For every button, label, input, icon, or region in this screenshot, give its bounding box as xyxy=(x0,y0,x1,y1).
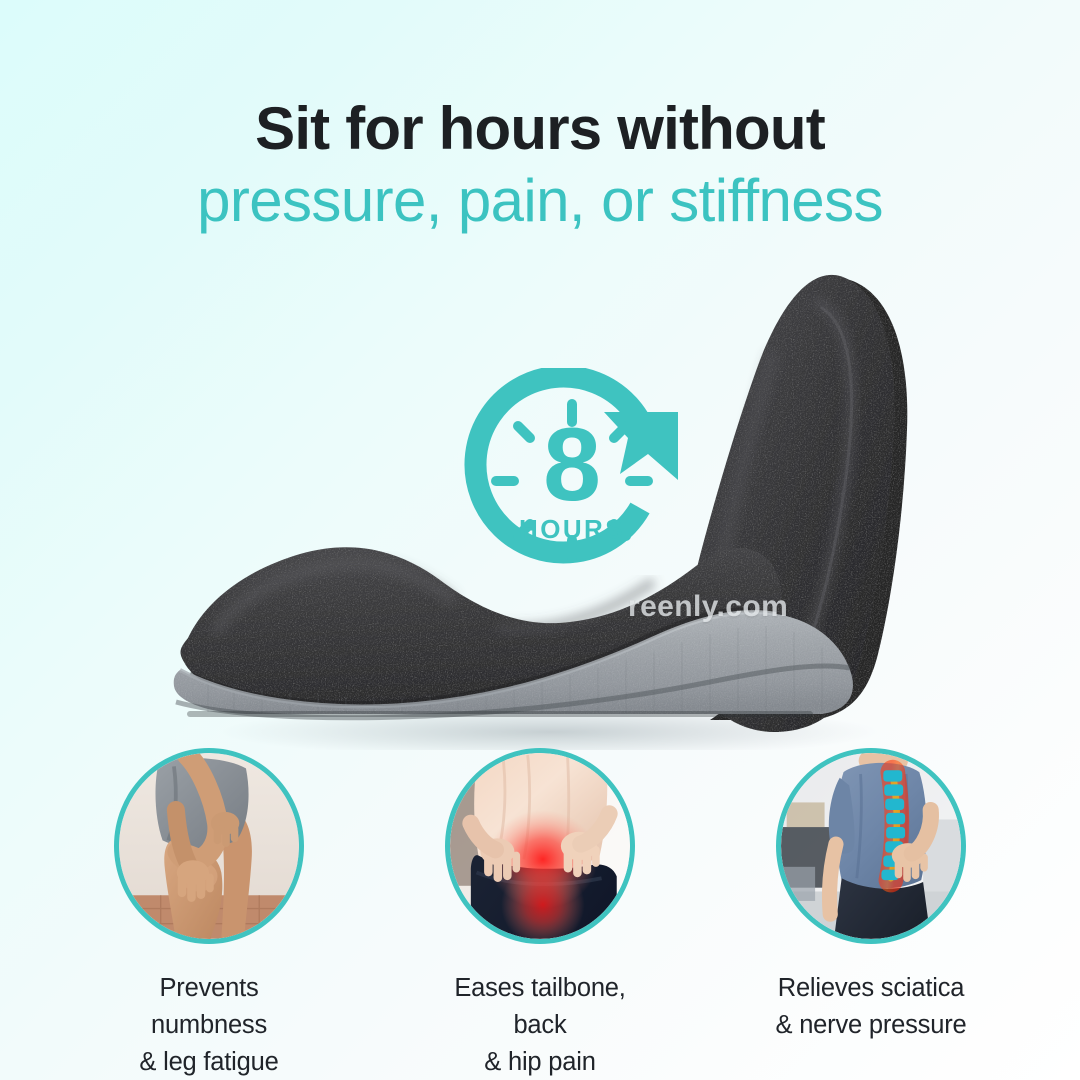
knee-leg-pain-photo xyxy=(114,748,304,944)
benefit-item: Eases tailbone, back & hip pain xyxy=(442,748,638,1080)
photo-inner xyxy=(450,753,630,939)
badge-hours-value: 8 xyxy=(543,407,601,523)
benefit-item: Prevents numbness & leg fatigue xyxy=(111,748,307,1080)
benefit-caption: Eases tailbone, back & hip pain xyxy=(442,970,638,1080)
clock-arrow-head-icon xyxy=(604,412,678,480)
benefit-caption: Relieves sciatica & nerve pressure xyxy=(776,970,967,1044)
benefit-item: Relieves sciatica & nerve pressure xyxy=(773,748,969,1080)
benefits-row: Prevents numbness & leg fatigue xyxy=(0,748,1080,1080)
photo-inner xyxy=(781,753,961,939)
headline-line-2: pressure, pain, or stiffness xyxy=(0,166,1080,236)
promo-poster: Sit for hours without pressure, pain, or… xyxy=(0,0,1080,1080)
spine-sciatica-photo xyxy=(776,748,966,944)
headline-line-1: Sit for hours without xyxy=(0,96,1080,162)
eight-hours-badge: 8 HOURS xyxy=(452,368,692,598)
badge-hours-unit: HOURS xyxy=(519,514,625,544)
photo-inner xyxy=(119,753,299,939)
lower-back-pain-photo xyxy=(445,748,635,944)
headline-block: Sit for hours without pressure, pain, or… xyxy=(0,96,1080,236)
benefit-caption: Prevents numbness & leg fatigue xyxy=(111,970,307,1080)
